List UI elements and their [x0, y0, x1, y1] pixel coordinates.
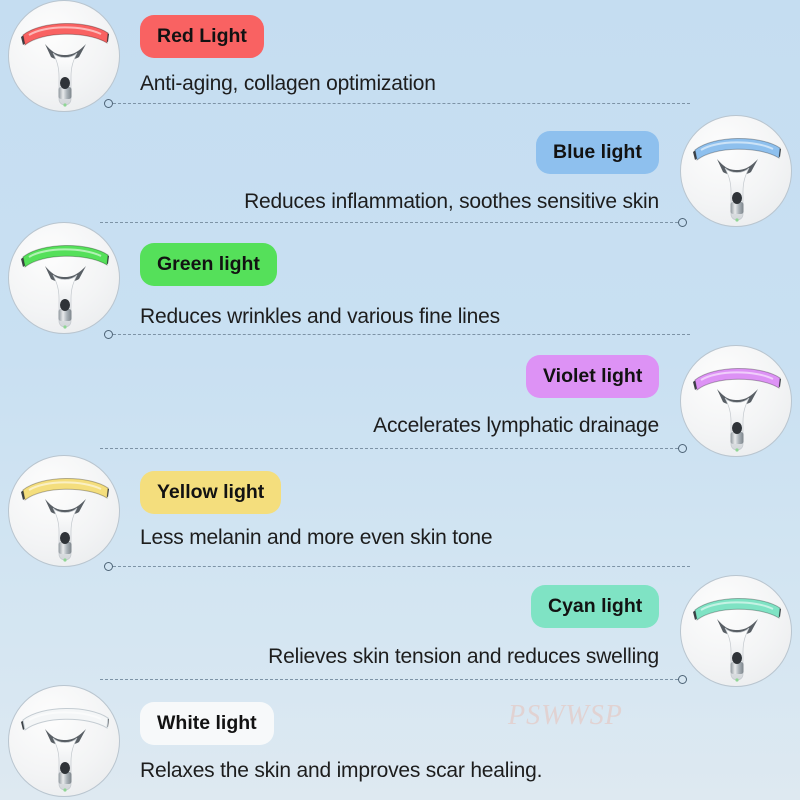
description-red-light: Anti-aging, collagen optimization: [140, 72, 436, 96]
description-green-light: Reduces wrinkles and various fine lines: [140, 305, 500, 329]
divider-endpoint-marker-violet-light: [678, 444, 687, 453]
description-white-light: Relaxes the skin and improves scar heali…: [140, 759, 542, 783]
pill-label-yellow-light: Yellow light: [140, 471, 281, 514]
pill-label-white-light: White light: [140, 702, 274, 745]
pill-label-violet-light: Violet light: [526, 355, 659, 398]
product-photo-cyan-light: [680, 575, 792, 687]
divider-endpoint-marker-green-light: [104, 330, 113, 339]
product-photo-yellow-light: [8, 455, 120, 567]
pill-label-green-light: Green light: [140, 243, 277, 286]
divider-endpoint-marker-red-light: [104, 99, 113, 108]
description-violet-light: Accelerates lymphatic drainage: [0, 414, 659, 438]
product-photo-red-light: [8, 0, 120, 112]
product-photo-violet-light: [680, 345, 792, 457]
description-yellow-light: Less melanin and more even skin tone: [140, 526, 492, 550]
pill-label-blue-light: Blue light: [536, 131, 659, 174]
product-photo-green-light: [8, 222, 120, 334]
divider-red-light: [113, 103, 690, 105]
divider-cyan-light: [100, 679, 678, 681]
divider-green-light: [113, 334, 690, 336]
divider-endpoint-marker-yellow-light: [104, 562, 113, 571]
product-photo-blue-light: [680, 115, 792, 227]
product-photo-white-light: [8, 685, 120, 797]
pill-label-red-light: Red Light: [140, 15, 264, 58]
description-cyan-light: Relieves skin tension and reduces swelli…: [0, 645, 659, 669]
divider-endpoint-marker-blue-light: [678, 218, 687, 227]
divider-yellow-light: [113, 566, 690, 568]
divider-violet-light: [100, 448, 678, 450]
watermark-text: PSWWSP: [508, 700, 623, 732]
description-blue-light: Reduces inflammation, soothes sensitive …: [0, 190, 659, 214]
pill-label-cyan-light: Cyan light: [531, 585, 659, 628]
divider-endpoint-marker-cyan-light: [678, 675, 687, 684]
divider-blue-light: [100, 222, 678, 224]
